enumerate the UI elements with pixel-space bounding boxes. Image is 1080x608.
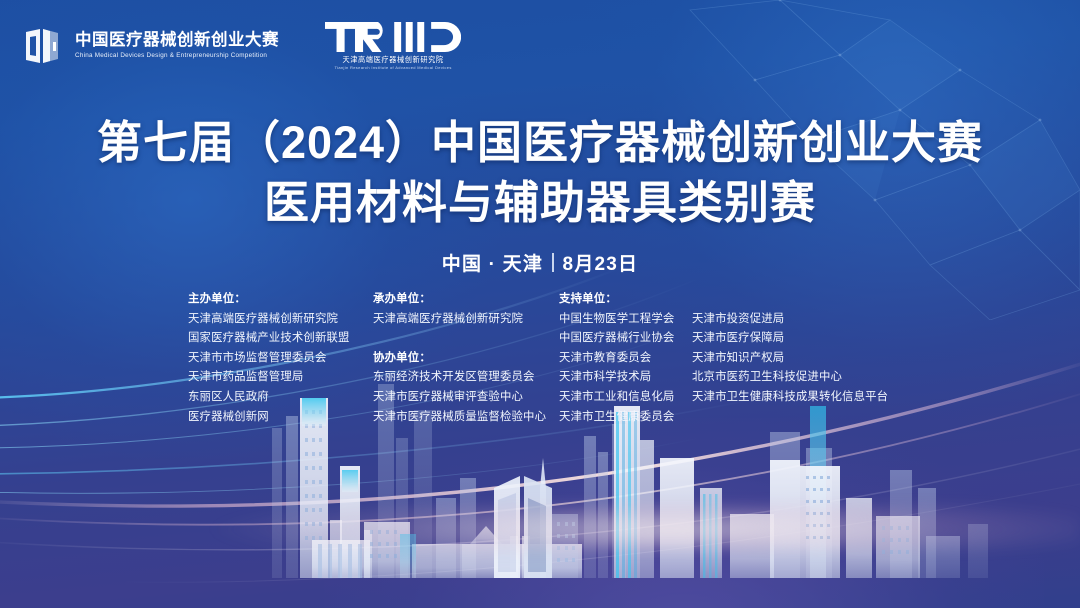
skyline-main-buildings bbox=[614, 406, 988, 578]
competition-logo: 中国医疗器械创新创业大赛 China Medical Devices Desig… bbox=[24, 26, 279, 66]
list-item: 天津高端医疗器械创新研究院 bbox=[373, 310, 559, 330]
skyline-center-gate bbox=[494, 476, 552, 578]
organisation-columns: 主办单位： 天津高端医疗器械创新研究院 国家医疗器械产业技术创新联盟 天津市市场… bbox=[188, 290, 902, 427]
list-item: 天津市教育委员会 bbox=[559, 349, 692, 369]
page-title: 第七届（2024）中国医疗器械创新创业大赛 bbox=[0, 116, 1080, 171]
list-item: 天津市卫生健康科技成果转化信息平台 bbox=[692, 388, 902, 408]
list-item: 天津市医疗器械审评查验中心 bbox=[373, 388, 559, 408]
header-logos: 中国医疗器械创新创业大赛 China Medical Devices Desig… bbox=[24, 22, 461, 70]
competition-logo-en: China Medical Devices Design & Entrepren… bbox=[75, 53, 283, 59]
title-group: 第七届（2024）中国医疗器械创新创业大赛 医用材料与辅助器具类别赛 中国 · … bbox=[0, 116, 1080, 276]
supporter-heading: 支持单位： bbox=[559, 290, 692, 310]
list-item: 国家医疗器械产业技术创新联盟 bbox=[188, 329, 373, 349]
institute-logo: 天津高端医疗器械创新研究院 Tianjin Research Institute… bbox=[325, 22, 461, 70]
list-item: 北京市医药卫生科技促进中心 bbox=[692, 368, 902, 388]
list-item: 医疗器械创新网 bbox=[188, 408, 373, 428]
co-organiser-heading: 协办单位： bbox=[373, 349, 559, 369]
list-item: 天津高端医疗器械创新研究院 bbox=[188, 310, 373, 330]
organiser-column: 主办单位： 天津高端医疗器械创新研究院 国家医疗器械产业技术创新联盟 天津市市场… bbox=[188, 290, 373, 427]
trimd-wordmark-icon bbox=[325, 22, 461, 52]
list-item: 天津市市场监督管理委员会 bbox=[188, 349, 373, 369]
event-date: 8月23日 bbox=[563, 249, 639, 276]
undertaker-heading: 承办单位： bbox=[373, 290, 559, 310]
institute-logo-cn: 天津高端医疗器械创新研究院 bbox=[342, 56, 443, 63]
place-date-separator bbox=[552, 253, 554, 272]
event-place: 中国 · 天津 bbox=[442, 249, 543, 276]
list-item: 天津市科学技术局 bbox=[559, 368, 692, 388]
list-item: 天津市医疗器械质量监督检验中心 bbox=[373, 408, 559, 428]
skyline-far-buildings bbox=[436, 424, 936, 578]
supporter-column-right: 天津市投资促进局 天津市医疗保障局 天津市知识产权局 北京市医药卫生科技促进中心… bbox=[692, 290, 902, 408]
list-item: 中国医疗器械行业协会 bbox=[559, 329, 692, 349]
open-book-door-mark-icon bbox=[24, 26, 64, 66]
supporter-column-right-spacer bbox=[692, 290, 902, 310]
list-item: 天津市医疗保障局 bbox=[692, 329, 902, 349]
undertaker-column: 承办单位： 天津高端医疗器械创新研究院 协办单位： 东丽经济技术开发区管理委员会… bbox=[373, 290, 559, 427]
list-item: 天津市卫生健康委员会 bbox=[559, 408, 692, 428]
column-spacer bbox=[373, 329, 559, 349]
competition-logo-cn: 中国医疗器械创新创业大赛 bbox=[75, 32, 279, 49]
ground-light-glow bbox=[0, 504, 1080, 550]
organiser-heading: 主办单位： bbox=[188, 290, 373, 310]
list-item: 天津市药品监督管理局 bbox=[188, 368, 373, 388]
list-item: 天津市知识产权局 bbox=[692, 349, 902, 369]
poster-canvas: 中国医疗器械创新创业大赛 China Medical Devices Desig… bbox=[0, 0, 1080, 608]
place-and-date: 中国 · 天津 8月23日 bbox=[0, 249, 1080, 276]
skyline-right-structures bbox=[462, 458, 582, 578]
supporter-column-left: 支持单位： 中国生物医学工程学会 中国医疗器械行业协会 天津市教育委员会 天津市… bbox=[559, 290, 692, 427]
list-item: 中国生物医学工程学会 bbox=[559, 310, 692, 330]
list-item: 东丽区人民政府 bbox=[188, 388, 373, 408]
page-subtitle: 医用材料与辅助器具类别赛 bbox=[0, 176, 1080, 231]
list-item: 天津市工业和信息化局 bbox=[559, 388, 692, 408]
institute-logo-en: Tianjin Research Institute of Advanced M… bbox=[334, 66, 451, 70]
list-item: 天津市投资促进局 bbox=[692, 310, 902, 330]
list-item: 东丽经济技术开发区管理委员会 bbox=[373, 368, 559, 388]
bottom-purple-glow bbox=[324, 418, 1044, 608]
